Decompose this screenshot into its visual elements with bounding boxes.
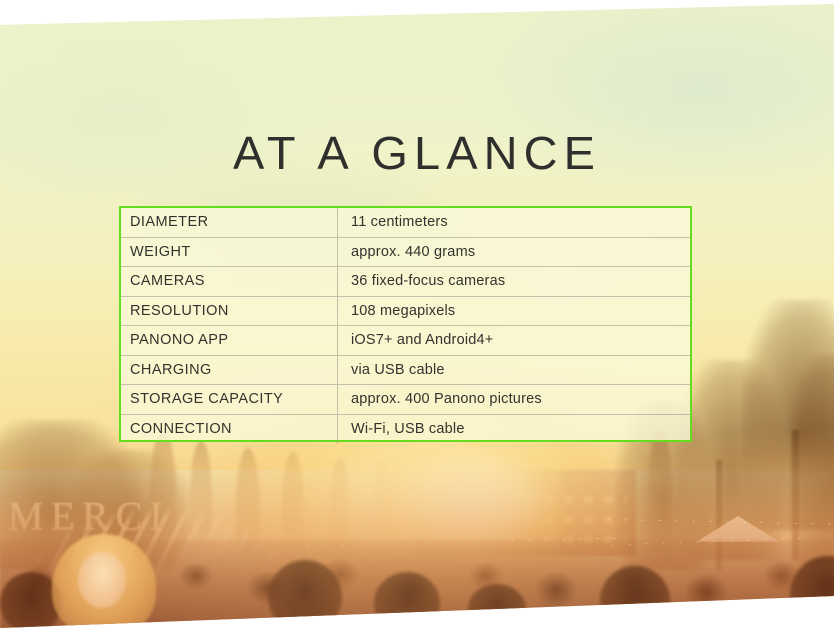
table-row: PANONO APPiOS7+ and Android4+ [121,326,690,356]
table-row: DIAMETER11 centimeters [121,208,690,238]
spec-value: Wi-Fi, USB cable [338,415,690,445]
spec-value: 108 megapixels [338,297,690,326]
spec-value: 11 centimeters [338,208,690,237]
spec-label: PANONO APP [121,326,338,355]
table-row: STORAGE CAPACITYapprox. 400 Panono pictu… [121,385,690,415]
spec-value: approx. 400 Panono pictures [338,385,690,414]
table-row: CHARGINGvia USB cable [121,356,690,386]
table-row: CAMERAS36 fixed-focus cameras [121,267,690,297]
foreground-person-face [78,552,126,608]
foreground-person-head [374,572,440,634]
spec-label: STORAGE CAPACITY [121,385,338,414]
spec-value: approx. 440 grams [338,238,690,267]
slide: MERCI AT A GLANCE DIAMETER11 centimeters… [0,0,834,634]
page-title: AT A GLANCE [0,126,834,180]
foreground-person-head [468,584,526,634]
spec-label: WEIGHT [121,238,338,267]
spec-label: CAMERAS [121,267,338,296]
spec-value: iOS7+ and Android4+ [338,326,690,355]
spec-label: DIAMETER [121,208,338,237]
spec-value: 36 fixed-focus cameras [338,267,690,296]
spec-label: CONNECTION [121,415,338,445]
spec-value: via USB cable [338,356,690,385]
foreground-person-head [600,566,670,634]
table-row: RESOLUTION108 megapixels [121,297,690,327]
spec-label: RESOLUTION [121,297,338,326]
spec-label: CHARGING [121,356,338,385]
spec-table: DIAMETER11 centimetersWEIGHTapprox. 440 … [119,206,692,442]
table-row: CONNECTIONWi-Fi, USB cable [121,415,690,445]
table-row: WEIGHTapprox. 440 grams [121,238,690,268]
foreground-person-head [268,560,342,634]
